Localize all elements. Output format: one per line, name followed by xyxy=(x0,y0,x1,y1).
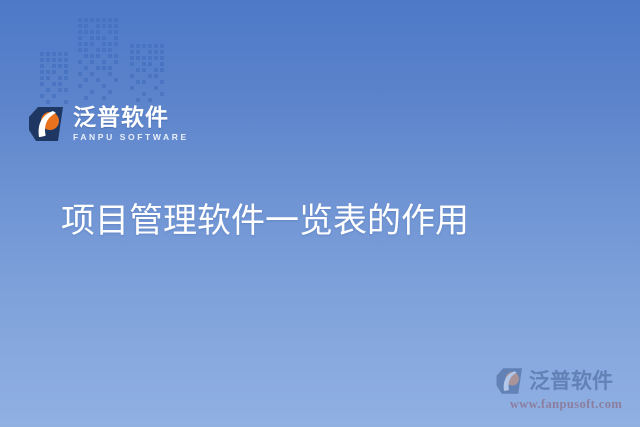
watermark-brand-name: 泛普软件 xyxy=(529,371,613,392)
brand-logo: 泛普软件 FANPU SOFTWARE xyxy=(27,104,189,144)
watermark: 泛普软件 www.fanpusoft.com xyxy=(495,366,637,411)
fanpu-hexagon-logo-icon xyxy=(27,104,67,144)
watermark-brand-row: 泛普软件 xyxy=(495,366,637,396)
page-title: 项目管理软件一览表的作用 xyxy=(61,193,469,242)
watermark-url: www.fanpusoft.com xyxy=(495,398,637,411)
brand-name-cn: 泛普软件 xyxy=(73,107,189,130)
slide-canvas: 泛普软件 FANPU SOFTWARE 项目管理软件一览表的作用 泛普软件 ww… xyxy=(0,0,640,427)
brand-name-en: FANPU SOFTWARE xyxy=(73,133,189,142)
brand-text-block: 泛普软件 FANPU SOFTWARE xyxy=(73,107,189,142)
fanpu-hexagon-logo-icon xyxy=(495,366,525,396)
pixel-city-skyline-icon xyxy=(38,14,168,110)
